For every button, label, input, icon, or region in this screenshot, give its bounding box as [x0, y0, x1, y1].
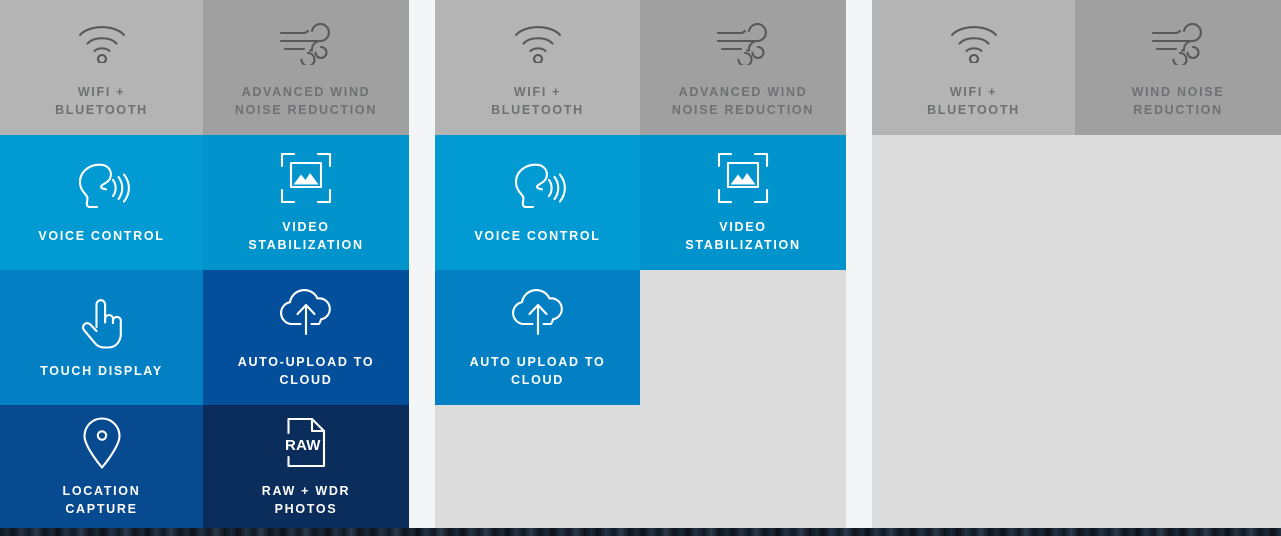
tile-label: TOUCH DISPLAY [40, 362, 163, 380]
image-frame-icon [280, 152, 332, 204]
tile-label: WIND NOISE REDUCTION [1132, 83, 1225, 119]
tile-label: ADVANCED WIND NOISE REDUCTION [672, 83, 814, 119]
tile-wind-noise[interactable]: ADVANCED WIND NOISE REDUCTION [203, 0, 409, 135]
tile-empty [435, 405, 640, 528]
feature-grid-left: WIFI + BLUETOOTHADVANCED WIND NOISE REDU… [0, 0, 409, 528]
tile-label: AUTO UPLOAD TO CLOUD [470, 353, 606, 389]
tile-touch-display[interactable]: TOUCH DISPLAY [0, 270, 203, 405]
map-pin-icon [81, 416, 123, 468]
tile-label: VOICE CONTROL [38, 227, 164, 245]
tile-label: VIDEO STABILIZATION [685, 218, 800, 254]
tile-label: LOCATION CAPTURE [63, 482, 141, 518]
tile-wifi-bluetooth[interactable]: WIFI + BLUETOOTH [435, 0, 640, 135]
image-frame-icon [717, 152, 769, 204]
cloud-upload-icon [278, 287, 334, 339]
tile-voice-control[interactable]: VOICE CONTROL [435, 135, 640, 270]
tile-empty [640, 270, 846, 405]
feature-grid-middle: WIFI + BLUETOOTHADVANCED WIND NOISE REDU… [435, 0, 846, 528]
tile-label: ADVANCED WIND NOISE REDUCTION [235, 83, 377, 119]
tile-empty [640, 405, 846, 528]
tile-wifi-bluetooth[interactable]: WIFI + BLUETOOTH [872, 0, 1075, 135]
tile-empty [1075, 270, 1281, 405]
tile-video-stabilization[interactable]: VIDEO STABILIZATION [203, 135, 409, 270]
feature-tiles-screenshot: WIFI + BLUETOOTHADVANCED WIND NOISE REDU… [0, 0, 1281, 536]
svg-text:RAW: RAW [285, 437, 321, 454]
wifi-icon [511, 17, 565, 69]
wind-icon [277, 17, 335, 69]
voice-control-icon [73, 161, 131, 213]
tile-auto-upload-cloud[interactable]: AUTO-UPLOAD TO CLOUD [203, 270, 409, 405]
tile-raw-wdr-photos[interactable]: RAWRAW + WDR PHOTOS [203, 405, 409, 528]
tile-label: VOICE CONTROL [474, 227, 600, 245]
tile-wind-noise[interactable]: WIND NOISE REDUCTION [1075, 0, 1281, 135]
tile-wind-noise[interactable]: ADVANCED WIND NOISE REDUCTION [640, 0, 846, 135]
voice-control-icon [509, 161, 567, 213]
touch-hand-icon [78, 296, 126, 348]
tile-label: VIDEO STABILIZATION [248, 218, 363, 254]
photo-strip [0, 528, 1281, 536]
tile-empty [872, 270, 1075, 405]
tile-empty [872, 405, 1075, 528]
wind-icon [1149, 17, 1207, 69]
tile-auto-upload-cloud[interactable]: AUTO UPLOAD TO CLOUD [435, 270, 640, 405]
tile-label: AUTO-UPLOAD TO CLOUD [238, 353, 375, 389]
wifi-icon [947, 17, 1001, 69]
wifi-icon [75, 17, 129, 69]
tile-label: WIFI + BLUETOOTH [927, 83, 1020, 119]
cloud-upload-icon [510, 287, 566, 339]
feature-grid-right: WIFI + BLUETOOTHWIND NOISE REDUCTION [872, 0, 1281, 528]
tile-empty [1075, 135, 1281, 270]
tile-empty [872, 135, 1075, 270]
tile-label: WIFI + BLUETOOTH [491, 83, 584, 119]
tile-voice-control[interactable]: VOICE CONTROL [0, 135, 203, 270]
tile-video-stabilization[interactable]: VIDEO STABILIZATION [640, 135, 846, 270]
tile-label: RAW + WDR PHOTOS [262, 482, 351, 518]
wind-icon [714, 17, 772, 69]
raw-document-icon: RAW [281, 416, 331, 468]
tile-empty [1075, 405, 1281, 528]
tile-label: WIFI + BLUETOOTH [55, 83, 148, 119]
tile-location-capture[interactable]: LOCATION CAPTURE [0, 405, 203, 528]
tile-wifi-bluetooth[interactable]: WIFI + BLUETOOTH [0, 0, 203, 135]
